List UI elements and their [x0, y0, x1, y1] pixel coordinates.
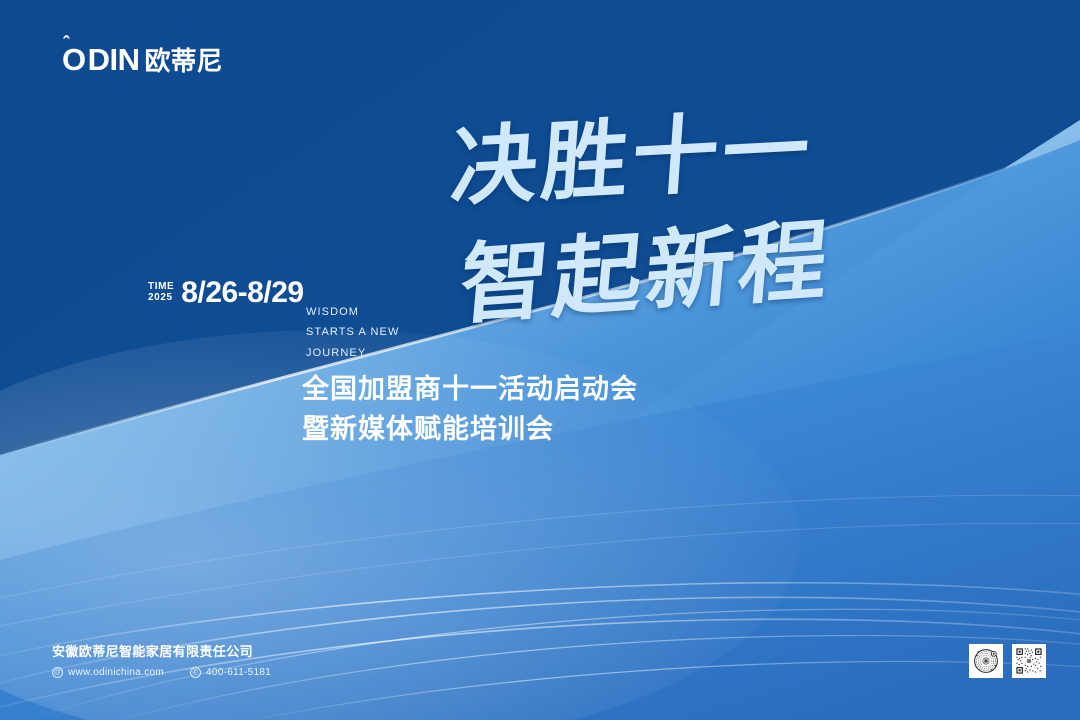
- logo-circumflex-accent: ˆ: [63, 35, 69, 54]
- qr-code-wechat-official[interactable]: [969, 644, 1003, 678]
- phone-icon: ✆: [190, 667, 201, 678]
- company-name: 安徽欧蒂尼智能家居有限责任公司: [52, 644, 271, 660]
- tagline-line-1: WISDOM: [306, 302, 399, 322]
- subtitle-line-1: 全国加盟商十一活动启动会: [302, 370, 638, 410]
- logo-latin-text: DIN: [88, 44, 140, 75]
- logo-letter-o: ˆ O: [62, 44, 86, 75]
- background-waves: [0, 0, 1080, 720]
- event-subtitle: 全国加盟商十一活动启动会 暨新媒体赋能培训会: [302, 370, 638, 450]
- footer-info: 安徽欧蒂尼智能家居有限责任公司 @ www.odinichina.com ✆ 4…: [52, 644, 271, 678]
- event-date: TIME 2025 8/26-8/29: [148, 278, 304, 308]
- qr-code-mini-program[interactable]: [1012, 644, 1046, 678]
- website-value: www.odinichina.com: [68, 667, 164, 678]
- date-label: TIME 2025: [148, 278, 174, 303]
- contact-row: @ www.odinichina.com ✆ 400-611-5181: [52, 667, 271, 678]
- tagline-line-2: STARTS A NEW: [306, 322, 399, 342]
- globe-icon: @: [52, 667, 63, 678]
- event-poster: ˆ O DIN 欧蒂尼 决胜十一 智起新程 TIME 2025 8/26-8/2…: [0, 0, 1080, 720]
- logo-chinese-text: 欧蒂尼: [145, 48, 223, 74]
- title-line-1: 决胜十一: [448, 107, 816, 212]
- phone-value: 400-611-5181: [206, 667, 271, 678]
- title-line-2: 智起新程: [457, 215, 836, 328]
- date-label-time: TIME: [148, 282, 174, 293]
- date-label-year: 2025: [148, 293, 174, 304]
- qr-code-group: [969, 644, 1046, 678]
- brand-logo: ˆ O DIN 欧蒂尼: [62, 44, 223, 75]
- website-item[interactable]: @ www.odinichina.com: [52, 667, 164, 678]
- tagline-line-3: JOURNEY: [306, 343, 399, 363]
- phone-item[interactable]: ✆ 400-611-5181: [190, 667, 271, 678]
- main-title: 决胜十一 智起新程: [440, 110, 910, 340]
- english-tagline: WISDOM STARTS A NEW JOURNEY: [306, 302, 399, 363]
- subtitle-line-2: 暨新媒体赋能培训会: [302, 410, 638, 450]
- date-range-value: 8/26-8/29: [181, 278, 303, 308]
